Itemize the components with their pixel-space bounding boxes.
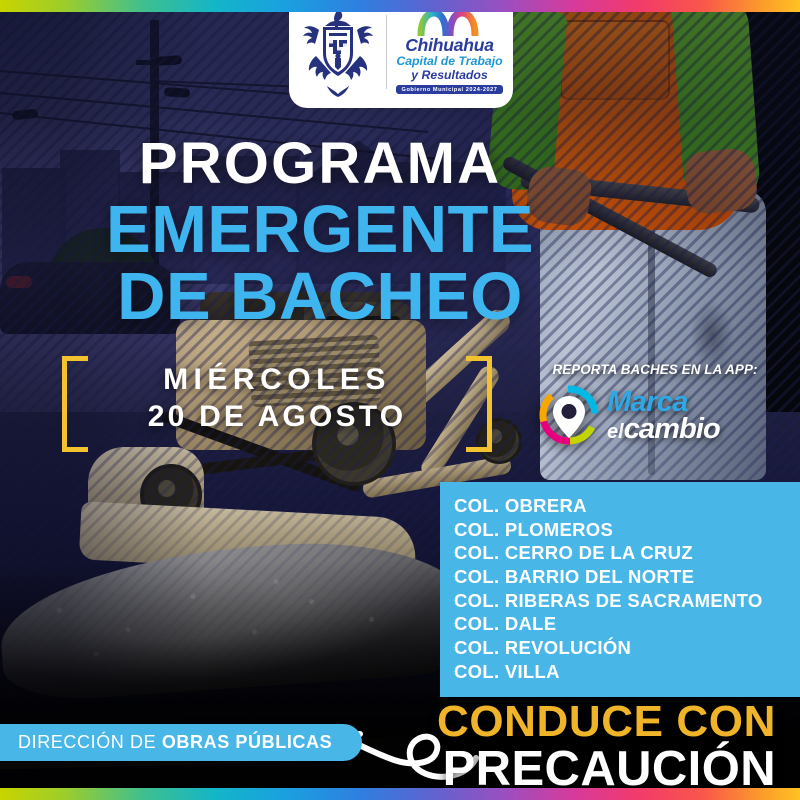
chihuahua-wordmark: Chihuahua Capital de Trabajo y Resultado… — [396, 10, 504, 94]
institutional-logo-card: Chihuahua Capital de Trabajo y Resultado… — [289, 0, 513, 108]
headline-block: PROGRAMA EMERGENTE DE BACHEO — [0, 136, 640, 330]
app-promo-block: REPORTA BACHES EN LA APP: Marca elcambio — [524, 362, 786, 447]
drive-warning-block: CONDUCE CON PRECAUCIÓN — [437, 700, 776, 795]
list-item: COL. CERRO DE LA CRUZ — [454, 541, 800, 565]
brand-city-name: Chihuahua — [405, 37, 494, 55]
warning-line-1: CONDUCE CON — [437, 700, 776, 744]
list-item: COL. OBRERA — [454, 494, 800, 518]
department-name: OBRAS PÚBLICAS — [162, 732, 332, 752]
chihuahua-coat-of-arms-icon — [299, 6, 377, 98]
list-item: COL. BARRIO DEL NORTE — [454, 565, 800, 589]
bracket-left-icon — [62, 356, 88, 452]
headline-line-bacheo: DE BACHEO — [0, 263, 640, 330]
list-item: COL. VILLA — [454, 660, 800, 684]
headline-line-emergente: EMERGENTE — [0, 196, 640, 263]
brand-administration-label: Gobierno Municipal 2024-2027 — [396, 85, 504, 94]
department-prefix: DIRECCIÓN DE — [18, 732, 162, 752]
top-gradient-strip — [0, 0, 800, 12]
app-name-primary: Marca — [607, 389, 720, 416]
poster-canvas: Chihuahua Capital de Trabajo y Resultado… — [0, 0, 800, 800]
logo-divider — [386, 15, 387, 89]
app-logo: Marca elcambio — [524, 385, 786, 447]
chihuahua-m-wave-icon — [417, 10, 483, 36]
date-weekday: MIÉRCOLES — [102, 362, 452, 399]
bracket-right-icon — [466, 356, 492, 452]
brand-tagline-line1: Capital de Trabajo — [396, 55, 502, 68]
headline-line-programa: PROGRAMA — [0, 136, 640, 192]
department-badge: DIRECCIÓN DE OBRAS PÚBLICAS — [0, 724, 362, 761]
bottom-gradient-strip — [0, 788, 800, 800]
list-item: COL. REVOLUCIÓN — [454, 636, 800, 660]
app-name-small: el — [607, 421, 624, 443]
date-day-month: 20 DE AGOSTO — [102, 399, 452, 436]
date-block: MIÉRCOLES 20 DE AGOSTO — [62, 356, 492, 452]
brand-tagline-line2: y Resultados — [411, 69, 488, 82]
list-item: COL. PLOMEROS — [454, 518, 800, 542]
list-item: COL. RIBERAS DE SACRAMENTO — [454, 589, 800, 613]
colonias-panel: COL. OBRERA COL. PLOMEROS COL. CERRO DE … — [440, 482, 800, 697]
list-item: COL. DALE — [454, 612, 800, 636]
app-promo-label: REPORTA BACHES EN LA APP: — [524, 362, 786, 377]
app-name-secondary: cambio — [624, 413, 720, 445]
location-pin-icon — [538, 385, 600, 447]
